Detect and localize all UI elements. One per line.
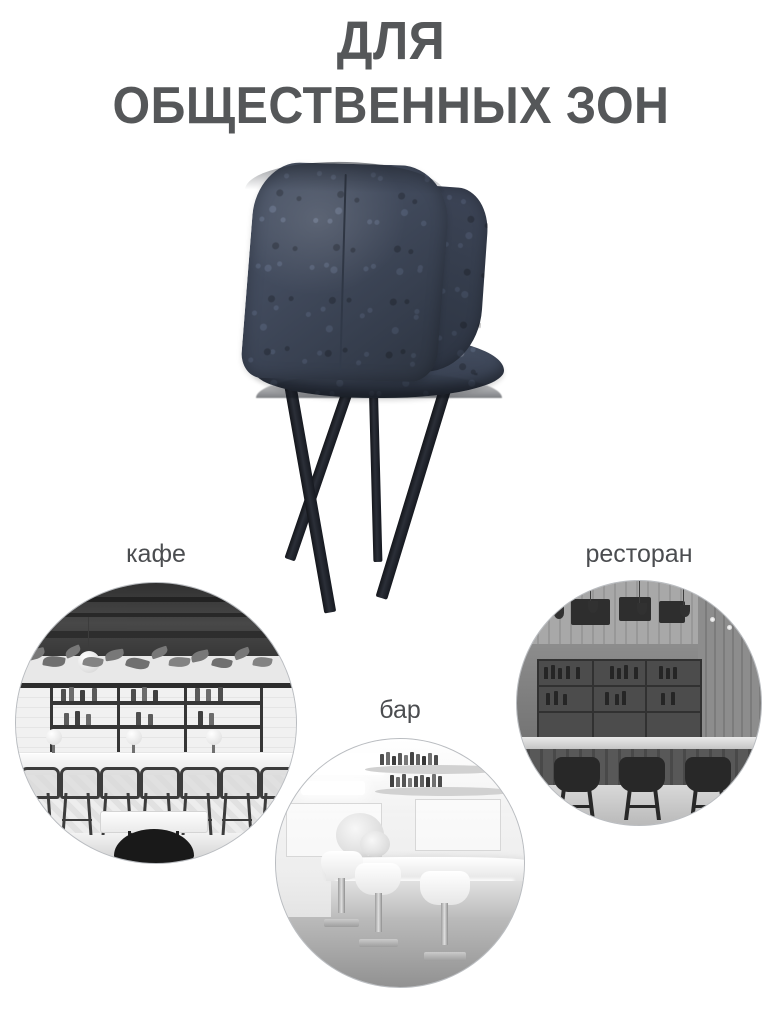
- vignette-restaurant-label: ресторан: [508, 540, 770, 569]
- vignette-restaurant-photo: [516, 580, 762, 826]
- chair-leg-back-center: [369, 376, 383, 562]
- list-item: [420, 871, 470, 961]
- vignette-bar-label: бар: [262, 696, 538, 725]
- vignette-cafe: кафе: [12, 540, 300, 840]
- chair-leg-front-right: [376, 378, 454, 600]
- list-item: [685, 757, 731, 819]
- title-line-1: ДЛЯ: [27, 14, 754, 68]
- title-line-2: ОБЩЕСТВЕННЫХ ЗОН: [27, 80, 754, 132]
- vignette-restaurant: ресторан: [508, 540, 770, 830]
- vignette-bar-photo: [275, 738, 525, 988]
- list-item: [554, 757, 600, 819]
- list-item: [619, 757, 665, 819]
- list-item: [355, 863, 401, 947]
- page-title: ДЛЯ ОБЩЕСТВЕННЫХ ЗОН: [0, 14, 782, 132]
- vignette-bar: бар: [262, 696, 538, 996]
- vignette-cafe-photo: [15, 582, 297, 864]
- promo-canvas: ДЛЯ ОБЩЕСТВЕННЫХ ЗОН кафе: [0, 0, 782, 1016]
- vignette-cafe-label: кафе: [12, 540, 300, 569]
